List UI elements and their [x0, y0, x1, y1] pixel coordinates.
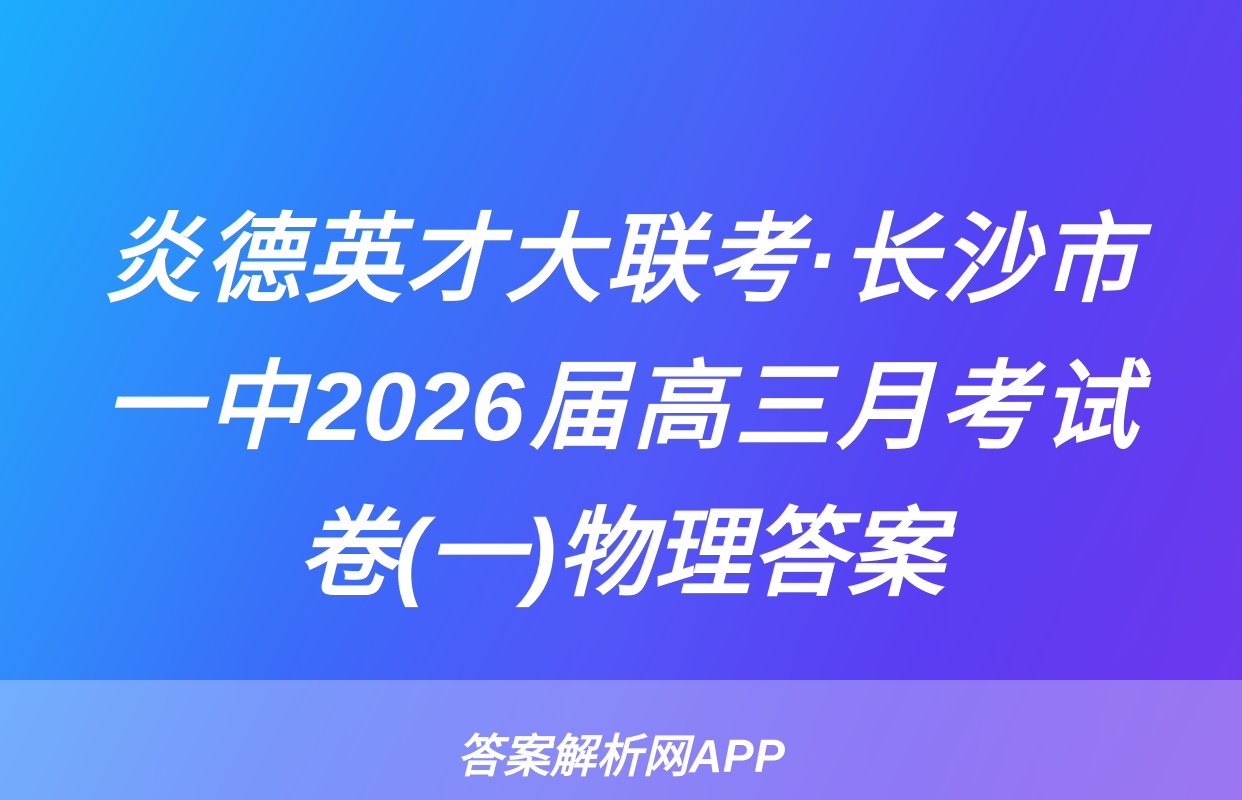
title-line-2: 一中2026届高三月考试: [104, 333, 1138, 480]
page-title: 炎德英才大联考·长沙市 一中2026届高三月考试 卷(一)物理答案: [104, 186, 1138, 627]
footer-watermark-band: 答案解析网APP: [0, 680, 1242, 800]
title-line-1: 炎德英才大联考·长沙市: [104, 186, 1138, 333]
footer-watermark-text: 答案解析网APP: [457, 732, 786, 780]
poster-canvas: 炎德英才大联考·长沙市 一中2026届高三月考试 卷(一)物理答案 答案解析网A…: [0, 0, 1242, 800]
title-line-3: 卷(一)物理答案: [104, 480, 1138, 627]
